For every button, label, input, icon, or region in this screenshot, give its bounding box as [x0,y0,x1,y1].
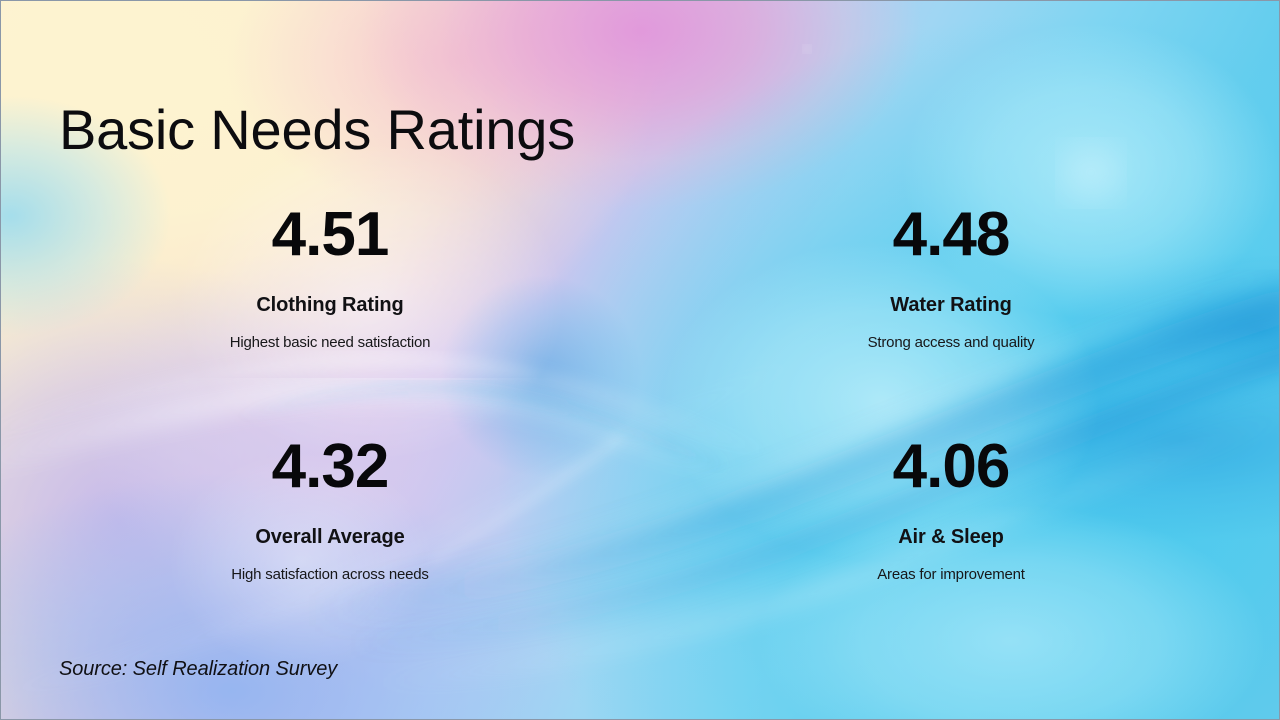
stat-value: 4.51 [115,197,545,273]
stat-label: Clothing Rating [115,293,545,317]
stat-card-clothing-rating: 4.51 Clothing Rating Highest basic need … [115,197,545,352]
page-title: Basic Needs Ratings [59,96,575,164]
stat-description: Strong access and quality [736,333,1166,352]
stat-card-overall-average: 4.32 Overall Average High satisfaction a… [115,429,545,584]
stat-description: High satisfaction across needs [115,565,545,584]
stat-label: Overall Average [115,525,545,549]
stat-value: 4.06 [736,429,1166,505]
slide-content: Basic Needs Ratings 4.51 Clothing Rating… [1,1,1279,719]
stat-label: Water Rating [736,293,1166,317]
stat-card-air-and-sleep: 4.06 Air & Sleep Areas for improvement [736,429,1166,584]
stat-description: Areas for improvement [736,565,1166,584]
stat-card-water-rating: 4.48 Water Rating Strong access and qual… [736,197,1166,352]
stat-description: Highest basic need satisfaction [115,333,545,352]
stat-value: 4.48 [736,197,1166,273]
source-caption: Source: Self Realization Survey [59,656,337,682]
stat-value: 4.32 [115,429,545,505]
slide-canvas: Basic Needs Ratings 4.51 Clothing Rating… [0,0,1280,720]
stat-label: Air & Sleep [736,525,1166,549]
